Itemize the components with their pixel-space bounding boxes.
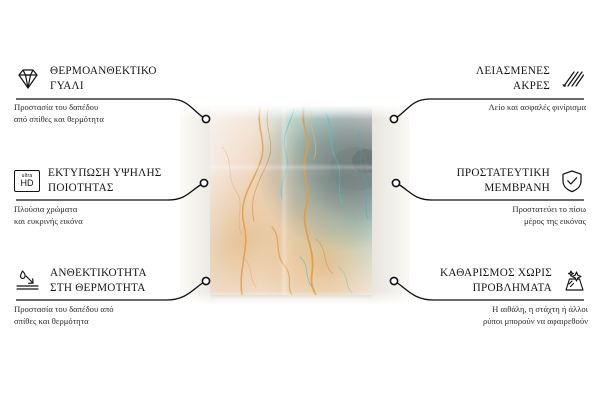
sparkle-clean-icon	[560, 268, 588, 294]
feature-description: Λείο και ασφαλές φινίρισμα	[410, 101, 586, 113]
connector-dot-left-3	[202, 277, 209, 284]
feature-description: Προστασία του δαπέδου από σπίθες και θερ…	[14, 101, 190, 126]
feature-heading: ΘΕΡΜΟΑΝΘΕΚΤΙΚΟ ΓΥΑΛΙ	[14, 64, 190, 94]
feature-title: ΠΡΟΣΤΑΤΕΥΤΙΚΗ ΜΕΜΒΡΑΝΗ	[457, 166, 550, 196]
connector-dot-left-1	[202, 115, 209, 122]
feature-polished-edges: ΛΕΙΑΣΜΕΝΕΣ ΑΚΡΕΣ Λείο και ασφαλές φινίρι…	[410, 64, 586, 113]
feature-description: Προστατεύει το πίσω μέρος της εικόνας	[408, 203, 586, 228]
diamond-icon	[14, 66, 42, 92]
connector-dot-right-1	[390, 115, 397, 122]
connector-dot-right-3	[390, 277, 397, 284]
diagonal-lines-icon	[558, 66, 586, 92]
shield-check-icon	[558, 168, 586, 194]
feature-heading: ΑΝΘΕΚΤΙΚΟΤΗΤΑ ΣΤΗ ΘΕΡΜΟΤΗΤΑ	[14, 266, 194, 296]
feature-title: ΛΕΙΑΣΜΕΝΕΣ ΑΚΡΕΣ	[476, 64, 550, 94]
feature-description: Η αιθάλη, η στάχτη ή άλλοι ρύποι μπορούν…	[402, 303, 588, 328]
feature-heading: ultra HD ΕΚΤΥΠΩΣΗ ΥΨΗΛΗΣ ΠΟΙΟΤΗΤΑΣ	[14, 166, 194, 196]
feature-protective-membrane: ΠΡΟΣΤΑΤΕΥΤΙΚΗ ΜΕΜΒΡΑΝΗ Προστατεύει το πί…	[408, 166, 586, 227]
feature-title: ΕΚΤΥΠΩΣΗ ΥΨΗΛΗΣ ΠΟΙΟΤΗΤΑΣ	[48, 166, 162, 196]
feature-description: Πλούσια χρώματα και ευκρινής εικόνα	[14, 203, 194, 228]
feature-heading: ΚΑΘΑΡΙΣΜΟΣ ΧΩΡΙΣ ΠΡΟΒΛΗΜΑΤΑ	[402, 266, 588, 296]
connector-dot-left-2	[200, 179, 207, 186]
feature-high-quality-print: ultra HD ΕΚΤΥΠΩΣΗ ΥΨΗΛΗΣ ΠΟΙΟΤΗΤΑΣ Πλούσ…	[14, 166, 194, 227]
infographic-stage: ΘΕΡΜΟΑΝΘΕΚΤΙΚΟ ΓΥΑΛΙ Προστασία του δαπέδ…	[0, 0, 600, 400]
feature-title: ΘΕΡΜΟΑΝΘΕΚΤΙΚΟ ΓΥΑΛΙ	[50, 64, 157, 94]
feature-description: Προστασία του δαπέδου από σπίθες και θερ…	[14, 303, 194, 328]
feature-heading: ΠΡΟΣΤΑΤΕΥΤΙΚΗ ΜΕΜΒΡΑΝΗ	[408, 166, 586, 196]
feature-heat-resistant-glass: ΘΕΡΜΟΑΝΘΕΚΤΙΚΟ ΓΥΑΛΙ Προστασία του δαπέδ…	[14, 64, 190, 125]
feature-heading: ΛΕΙΑΣΜΕΝΕΣ ΑΚΡΕΣ	[410, 64, 586, 94]
feature-title: ΚΑΘΑΡΙΣΜΟΣ ΧΩΡΙΣ ΠΡΟΒΛΗΜΑΤΑ	[440, 266, 552, 296]
ultra-hd-badge-icon: ultra HD	[14, 170, 40, 192]
feature-heat-durability: ΑΝΘΕΚΤΙΚΟΤΗΤΑ ΣΤΗ ΘΕΡΜΟΤΗΤΑ Προστασία το…	[14, 266, 194, 327]
connector-dot-right-2	[392, 179, 399, 186]
feature-easy-cleaning: ΚΑΘΑΡΙΣΜΟΣ ΧΩΡΙΣ ΠΡΟΒΛΗΜΑΤΑ Η αιθάλη, η …	[402, 266, 588, 327]
feature-title: ΑΝΘΕΚΤΙΚΟΤΗΤΑ ΣΤΗ ΘΕΡΜΟΤΗΤΑ	[50, 266, 147, 296]
ultra-hd-bottom-text: HD	[21, 179, 34, 188]
flame-surface-icon	[14, 268, 42, 294]
